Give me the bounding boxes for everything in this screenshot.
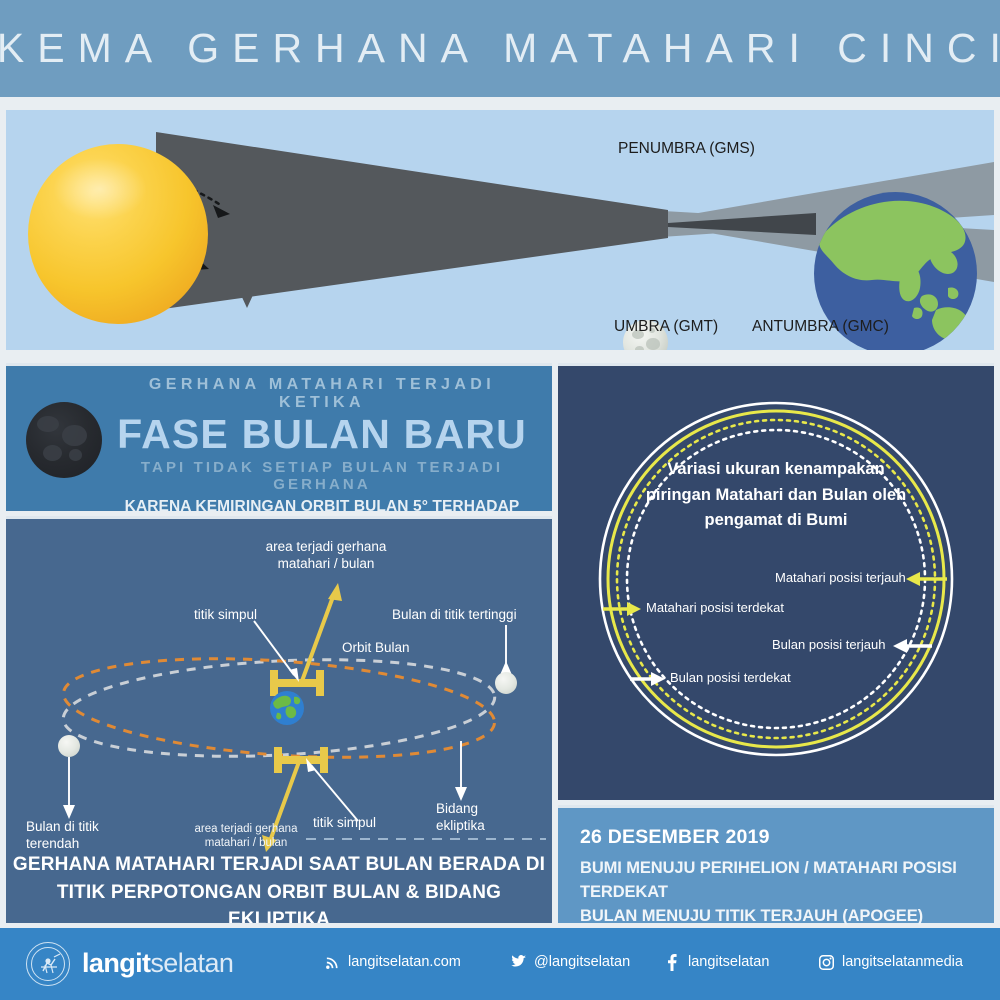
social-twitter[interactable]: @langitselatan	[510, 954, 630, 970]
social-rss[interactable]: langitselatan.com	[324, 954, 461, 970]
label-node-top: titik simpul	[194, 607, 257, 624]
label-moon-farthest: Bulan posisi terjauh	[772, 637, 885, 652]
ecliptic-l1: Bidang	[436, 801, 485, 818]
event-date-panel: 26 DESEMBER 2019 BUMI MENUJU PERIHELION …	[558, 805, 994, 923]
social-rss-label: langitselatan.com	[348, 954, 461, 970]
arrowhead-sun-farthest	[906, 572, 920, 586]
arrowhead-moon-farthest	[893, 639, 907, 653]
label-sun-nearest: Matahari posisi terdekat	[646, 600, 784, 615]
event-note-1: BUMI MENUJU PERIHELION / MATAHARI POSISI…	[580, 857, 994, 905]
label-antumbra: ANTUMBRA (GMC)	[752, 318, 889, 336]
brand-light: selatan	[150, 948, 233, 978]
seal-emblem	[27, 943, 71, 987]
lunar-orbit-panel: area terjadi gerhana matahari / bulan ti…	[6, 516, 552, 923]
phase-line-3: TAPI TIDAK SETIAP BULAN TERJADI GERHANA	[102, 459, 542, 493]
apparent-size-panel: Variasi ukuran kenampakan piringan Matah…	[558, 363, 994, 800]
earth-small-continents	[270, 691, 304, 725]
orbit-caption-line-2: TITIK PERPOTONGAN ORBIT BULAN & BIDANG E…	[6, 879, 552, 923]
title-bar: SKEMA GERHANA MATAHARI CINCIN	[0, 0, 1000, 97]
orbit-caption-line-1: GERHANA MATAHARI TERJADI SAAT BULAN BERA…	[6, 851, 552, 879]
footer-bar: langitselatan langitselatan.com @langits…	[0, 928, 1000, 1000]
label-eclipse-area-bottom: area terjadi gerhana matahari / bulan	[185, 822, 307, 851]
social-instagram-label: langitselatanmedia	[842, 954, 963, 970]
label-moon-nearest: Bulan posisi terdekat	[670, 670, 791, 685]
eclipse-area-top-l1: area terjadi gerhana	[256, 539, 396, 556]
apparent-size-title-l1: Variasi ukuran kenampakan	[608, 457, 944, 483]
eclipse-area-arrow-top	[302, 594, 334, 681]
eclipse-geometry-diagram: PENUMBRA (GMS) UMBRA (GMT) ANTUMBRA (GMC…	[6, 108, 994, 350]
eclipse-area-bottom-l2: matahari / bulan	[185, 836, 307, 850]
moon-low-leader-head	[63, 805, 75, 819]
langitselatan-seal-logo	[26, 942, 70, 986]
brand-wordmark: langitselatan	[82, 948, 233, 979]
label-penumbra: PENUMBRA (GMS)	[618, 140, 755, 158]
label-moon-high: Bulan di titik tertinggi	[392, 607, 517, 624]
phase-line-2: FASE BULAN BARU	[102, 413, 542, 456]
apparent-size-title-l2: piringan Matahari dan Bulan oleh	[608, 483, 944, 509]
node-leader-top	[254, 621, 294, 675]
infographic-page: SKEMA GERHANA MATAHARI CINCIN	[0, 0, 1000, 1000]
new-moon-icon	[26, 402, 102, 478]
moon-low-l1: Bulan di titik	[26, 819, 99, 836]
antumbra-arrowhead	[241, 295, 253, 308]
label-sun-farthest: Matahari posisi terjauh	[775, 570, 906, 585]
umbra-cone	[156, 132, 668, 310]
event-date: 26 DESEMBER 2019	[580, 826, 994, 849]
label-moon-orbit: Orbit Bulan	[342, 640, 410, 657]
orbit-caption: GERHANA MATAHARI TERJADI SAAT BULAN BERA…	[6, 851, 552, 923]
rss-icon	[324, 954, 340, 970]
node-leader-bottom	[311, 765, 358, 821]
social-instagram[interactable]: langitselatanmedia	[818, 954, 963, 970]
eclipse-area-bottom-l1: area terjadi gerhana	[185, 822, 307, 836]
new-moon-phase-panel: GERHANA MATAHARI TERJADI KETIKA FASE BUL…	[6, 363, 552, 511]
page-title: SKEMA GERHANA MATAHARI CINCIN	[0, 25, 1000, 72]
brand-bold: langit	[82, 948, 150, 978]
moon-high-sphere	[495, 672, 517, 694]
phase-text-block: GERHANA MATAHARI TERJADI KETIKA FASE BUL…	[102, 376, 542, 534]
phase-line-1: GERHANA MATAHARI TERJADI KETIKA	[102, 376, 542, 412]
sun-sphere	[28, 144, 208, 324]
label-umbra: UMBRA (GMT)	[614, 318, 718, 336]
social-facebook[interactable]: langitselatan	[664, 954, 769, 970]
apparent-size-title: Variasi ukuran kenampakan piringan Matah…	[608, 457, 944, 534]
label-moon-low: Bulan di titik terendah	[26, 819, 99, 853]
arrowhead-sun-nearest	[627, 602, 641, 616]
eclipse-area-top-l2: matahari / bulan	[256, 556, 396, 573]
social-twitter-label: @langitselatan	[534, 954, 630, 970]
facebook-icon	[664, 954, 680, 970]
social-facebook-label: langitselatan	[688, 954, 769, 970]
event-note-2: BULAN MENUJU TITIK TERJAUH (APOGEE)	[580, 905, 994, 929]
eclipse-area-arrowhead-top	[328, 583, 342, 601]
ecliptic-l2: ekliptika	[436, 818, 485, 835]
label-node-bottom: titik simpul	[313, 815, 376, 832]
instagram-icon	[818, 954, 834, 970]
earth-small-sphere	[270, 691, 304, 725]
apparent-size-title-l3: pengamat di Bumi	[608, 508, 944, 534]
label-ecliptic-plane: Bidang ekliptika	[436, 801, 485, 835]
moon-low-sphere	[58, 735, 80, 757]
label-eclipse-area-top: area terjadi gerhana matahari / bulan	[256, 539, 396, 573]
ecliptic-plane-leader-head	[455, 787, 467, 801]
twitter-icon	[510, 954, 526, 970]
